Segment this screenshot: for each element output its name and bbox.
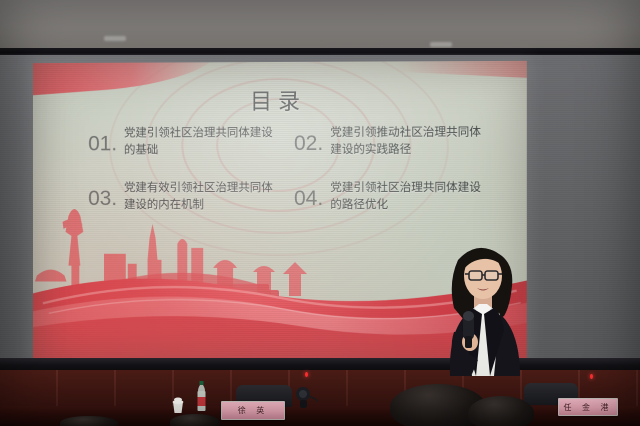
ceiling-vent-icon bbox=[104, 36, 126, 41]
toc-item-04: 04. 党建引领社区治理共同体建设的路径优化 bbox=[294, 179, 484, 213]
water-bottle bbox=[196, 381, 207, 411]
desk-microphone bbox=[292, 384, 318, 408]
toc-number: 02. bbox=[294, 124, 323, 154]
ribbon-decoration-top-right bbox=[395, 61, 527, 79]
toc-item-03: 03. 党建有效引领社区治理共同体建设的内在机制 bbox=[88, 179, 276, 212]
presentation-photo: 目录 01. 党建引领社区治理共同体建设的基础 02. 党建引领推动社区治理共同… bbox=[0, 0, 640, 426]
toc-item-01: 01. 党建引领社区治理共同体建设的基础 bbox=[88, 124, 276, 158]
audience-head bbox=[60, 416, 118, 426]
table-of-contents: 01. 党建引领社区治理共同体建设的基础 02. 党建引领推动社区治理共同体建设… bbox=[88, 123, 484, 212]
toc-number: 01. bbox=[88, 124, 117, 154]
toc-label: 党建引领推动社区治理共同体建设的实践路径 bbox=[330, 123, 481, 157]
audience-head bbox=[468, 396, 534, 426]
toc-item-02: 02. 党建引领推动社区治理共同体建设的实践路径 bbox=[294, 123, 484, 157]
audience-head bbox=[170, 414, 220, 426]
ceiling-vent-icon bbox=[430, 42, 452, 47]
toc-number: 04. bbox=[294, 179, 323, 209]
laser-indicator-icon bbox=[305, 372, 308, 377]
tea-cup bbox=[170, 396, 186, 413]
toc-label: 党建引领社区治理共同体建设的基础 bbox=[124, 124, 273, 158]
toc-number: 03. bbox=[88, 180, 117, 210]
speaker-presenter bbox=[424, 236, 542, 376]
slide-title: 目录 bbox=[33, 83, 527, 117]
toc-label: 党建引领社区治理共同体建设的路径优化 bbox=[330, 179, 481, 213]
laser-indicator-icon bbox=[590, 374, 593, 379]
nameplate-right: 任 金 港 bbox=[558, 398, 618, 416]
toc-label: 党建有效引领社区治理共同体建设的内在机制 bbox=[124, 179, 273, 212]
nameplate-left: 徐 英 bbox=[221, 401, 285, 420]
ceiling bbox=[0, 0, 640, 50]
